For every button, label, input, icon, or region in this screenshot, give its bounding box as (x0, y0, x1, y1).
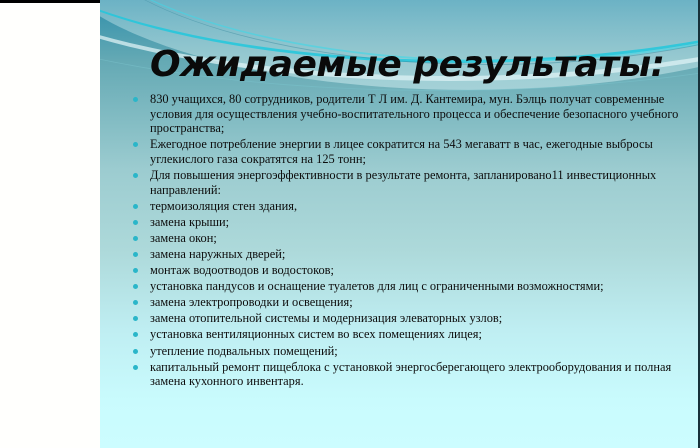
top-black-strip (0, 0, 100, 3)
bullet-list: 830 учащихся, 80 сотрудников, родители Т… (128, 92, 694, 390)
bullet-item: замена электропроводки и освещения; (128, 295, 694, 310)
bullet-item: замена крыши; (128, 215, 694, 230)
bullet-item: Для повышения энергоэффективности в резу… (128, 168, 694, 197)
bullet-item: установка пандусов и оснащение туалетов … (128, 279, 694, 294)
bullet-item: замена наружных дверей; (128, 247, 694, 262)
bullet-item: 830 учащихся, 80 сотрудников, родители Т… (128, 92, 694, 136)
bullet-item: монтаж водоотводов и водостоков; (128, 263, 694, 278)
bullet-item: замена отопительной системы и модернизац… (128, 311, 694, 326)
presentation-slide: Ожидаемые результаты: 830 учащихся, 80 с… (0, 0, 700, 448)
bullet-item: капитальный ремонт пищеблока с установко… (128, 360, 694, 389)
bullet-item: установка вентиляционных систем во всех … (128, 327, 694, 342)
slide-title: Ожидаемые результаты: (150, 44, 665, 86)
bullet-item: термоизоляция стен здания, (128, 199, 694, 214)
left-margin-panel (0, 0, 100, 448)
bullet-item: Ежегодное потребление энергии в лицее со… (128, 137, 694, 166)
bullet-item: утепление подвальных помещений; (128, 344, 694, 359)
slide-content: Ожидаемые результаты: 830 учащихся, 80 с… (100, 0, 700, 448)
bullet-item: замена окон; (128, 231, 694, 246)
